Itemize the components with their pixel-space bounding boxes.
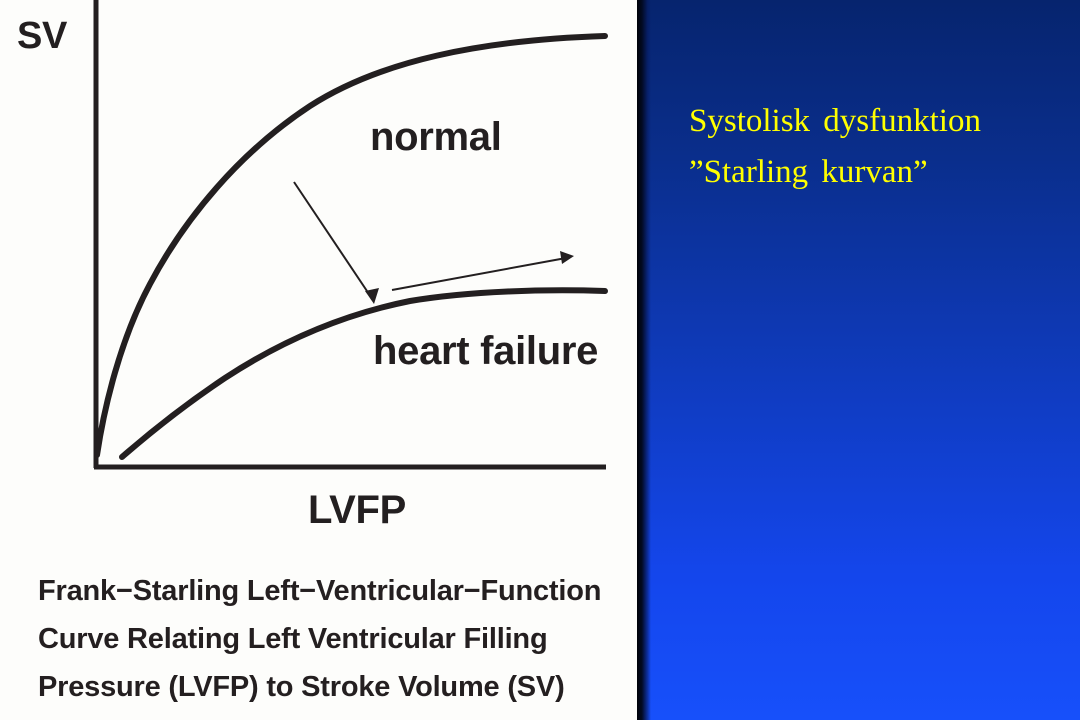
title-panel: Systolisk dysfunktion ”Starling kurvan” [637, 0, 1080, 720]
slide-title-block: Systolisk dysfunktion ”Starling kurvan” [689, 96, 1069, 198]
slide-subtitle-line: ”Starling kurvan” [689, 147, 1069, 198]
heart-failure-curve-label: heart failure [373, 329, 598, 374]
figure-caption: Frank−Starling Left−Ventricular−Function… [38, 567, 618, 711]
caption-line: Curve Relating Left Ventricular Filling [38, 615, 618, 663]
panel-edge-shadow [637, 0, 651, 720]
normal-curve-label: normal [370, 115, 502, 160]
depressed-contractility-arrow [294, 182, 379, 304]
slide-title-line: Systolisk dysfunktion [689, 96, 1069, 147]
y-axis-label: SV [17, 15, 67, 58]
frank-starling-chart [0, 0, 637, 560]
figure-panel: SV LVFP normal heart failure Frank−Starl… [0, 0, 637, 720]
x-axis-label: LVFP [308, 488, 406, 533]
caption-line: Frank−Starling Left−Ventricular−Function [38, 567, 618, 615]
slide-root: SV LVFP normal heart failure Frank−Starl… [0, 0, 1080, 720]
caption-line: Pressure (LVFP) to Stroke Volume (SV) [38, 663, 618, 711]
improved-contractility-arrow [392, 251, 574, 290]
chart-axes [94, 0, 606, 468]
normal-curve [97, 36, 605, 455]
